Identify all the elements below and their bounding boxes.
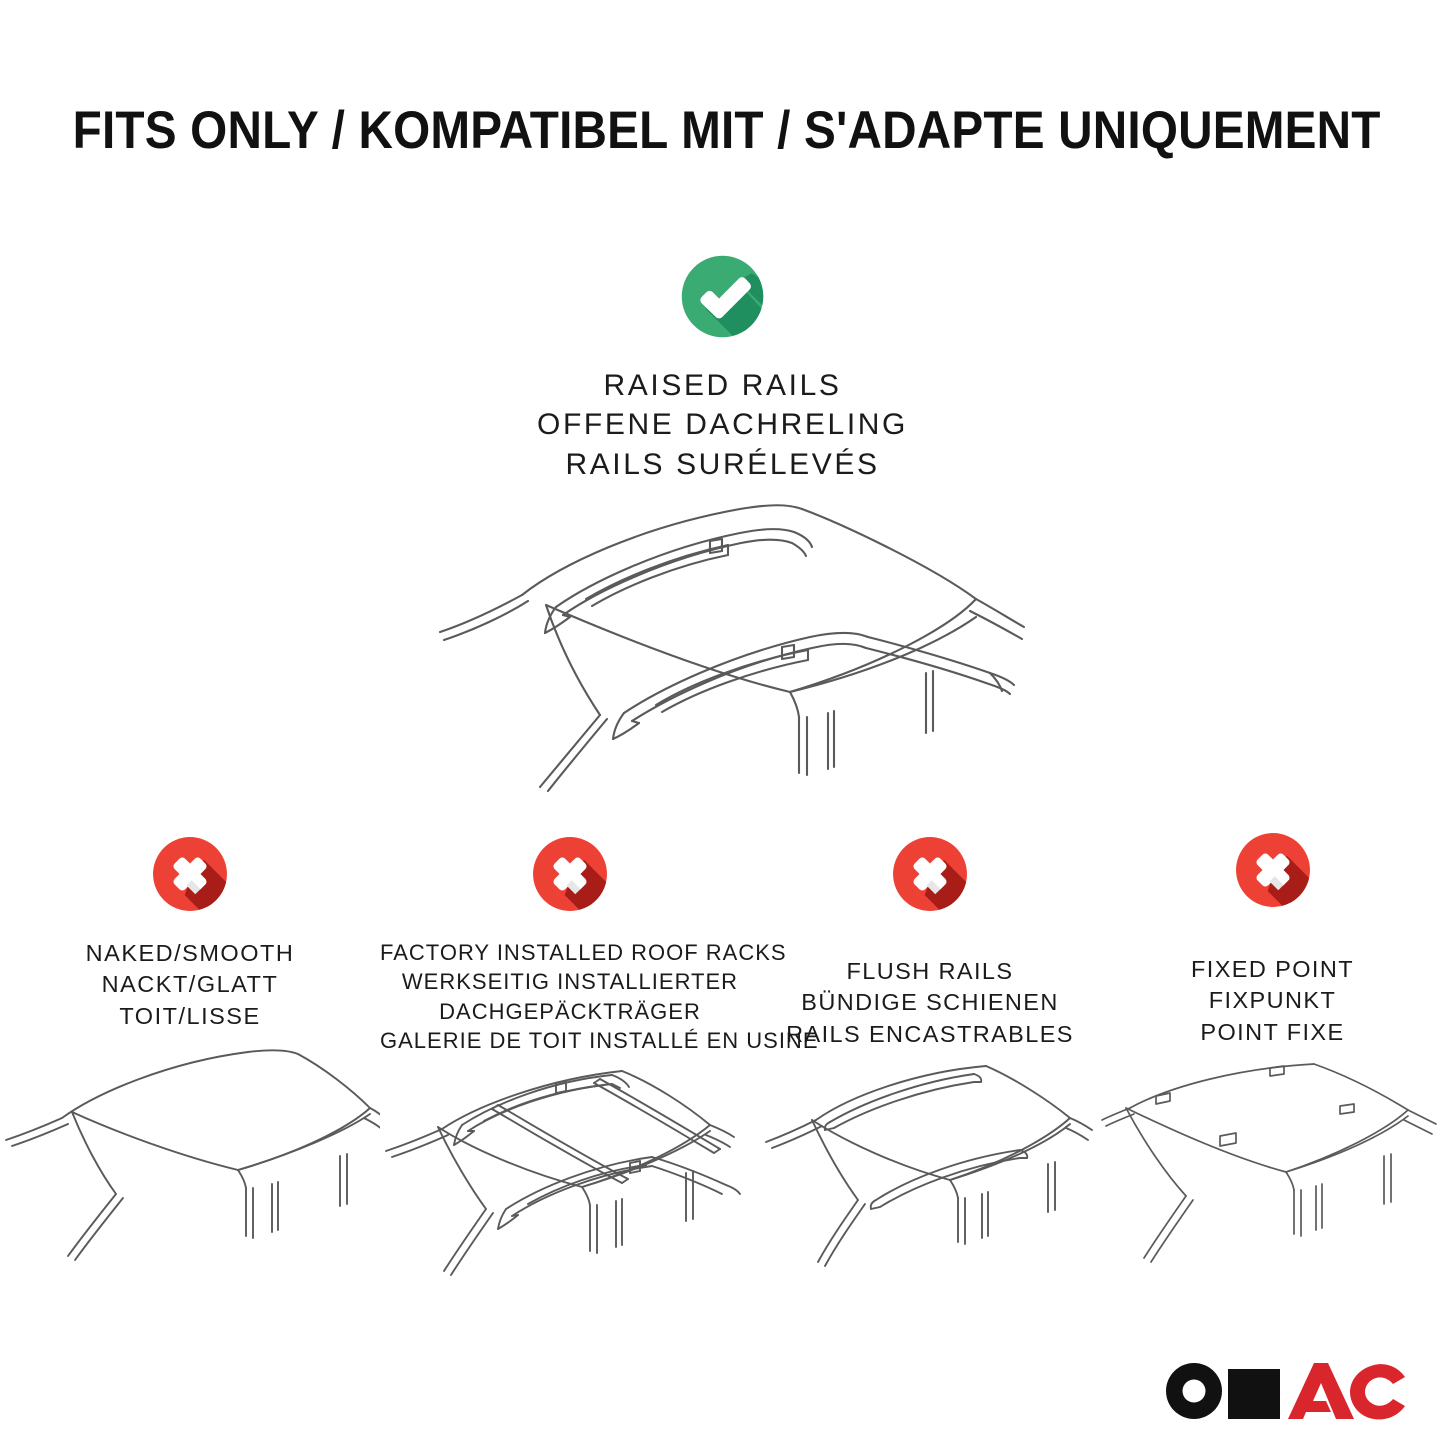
compatible-line-en: RAISED RAILS — [0, 366, 1445, 405]
incompatible-caption: FACTORY INSTALLED ROOF RACKS WERKSEITIG … — [380, 938, 760, 1055]
caption-line-de: NACKT/GLATT — [0, 969, 380, 1000]
compatible-line-fr: RAILS SURÉLEVÉS — [0, 445, 1445, 484]
compatible-caption: RAISED RAILS OFFENE DACHRELING RAILS SUR… — [0, 366, 1445, 484]
incompatible-item-naked-smooth: NAKED/SMOOTH NACKT/GLATT TOIT/LISSE — [0, 812, 380, 1271]
omac-logo — [1162, 1359, 1407, 1423]
incompatible-row: NAKED/SMOOTH NACKT/GLATT TOIT/LISSE — [0, 812, 1445, 1294]
caption-line-en: FACTORY INSTALLED ROOF RACKS — [380, 938, 760, 967]
caption-line-fr: POINT FIXE — [1100, 1017, 1445, 1048]
caption-line-fr: GALERIE DE TOIT INSTALLÉ EN USINE — [380, 1026, 760, 1055]
red-x-circle-icon — [1229, 826, 1317, 914]
red-x-circle-icon — [526, 830, 614, 918]
caption-line-fr: RAILS ENCASTRABLES — [760, 1019, 1100, 1050]
caption-line-de: BÜNDIGE SCHIENEN — [760, 987, 1100, 1018]
compatible-block: RAISED RAILS OFFENE DACHRELING RAILS SUR… — [0, 248, 1445, 484]
car-roof-factory-rack — [380, 1069, 760, 1294]
incompatible-item-fixed-point: FIXED POINT FIXPUNKT POINT FIXE — [1100, 812, 1445, 1287]
incompatible-caption: FIXED POINT FIXPUNKT POINT FIXE — [1100, 954, 1445, 1048]
compatible-line-de: OFFENE DACHRELING — [0, 405, 1445, 444]
fitment-infographic: FITS ONLY / KOMPATIBEL MIT / S'ADAPTE UN… — [0, 0, 1445, 1445]
caption-line-de-1: WERKSEITIG INSTALLIERTER — [380, 967, 760, 996]
caption-line-fr: TOIT/LISSE — [0, 1001, 380, 1032]
caption-line-en: FIXED POINT — [1100, 954, 1445, 985]
caption-line-en: FLUSH RAILS — [760, 956, 1100, 987]
car-roof-naked-smooth — [0, 1046, 380, 1271]
red-x-circle-icon — [886, 830, 974, 918]
page-title: FITS ONLY / KOMPATIBEL MIT / S'ADAPTE UN… — [0, 100, 1445, 161]
incompatible-caption: FLUSH RAILS BÜNDIGE SCHIENEN RAILS ENCAS… — [760, 956, 1100, 1050]
caption-line-de: FIXPUNKT — [1100, 985, 1445, 1016]
caption-line-de-2: DACHGEPÄCKTRÄGER — [380, 997, 760, 1026]
green-check-circle-icon — [674, 248, 771, 345]
incompatible-item-flush-rails: FLUSH RAILS BÜNDIGE SCHIENEN RAILS ENCAS… — [760, 812, 1100, 1289]
car-roof-with-raised-rails — [410, 487, 1030, 797]
car-roof-flush-rails — [760, 1064, 1100, 1289]
incompatible-caption: NAKED/SMOOTH NACKT/GLATT TOIT/LISSE — [0, 938, 380, 1032]
incompatible-item-factory-installed-roof-racks: FACTORY INSTALLED ROOF RACKS WERKSEITIG … — [380, 812, 760, 1294]
caption-line-en: NAKED/SMOOTH — [0, 938, 380, 969]
car-roof-fixed-point — [1100, 1062, 1445, 1287]
page-title-text: FITS ONLY / KOMPATIBEL MIT / S'ADAPTE UN… — [73, 100, 1381, 161]
red-x-circle-icon — [146, 830, 234, 918]
